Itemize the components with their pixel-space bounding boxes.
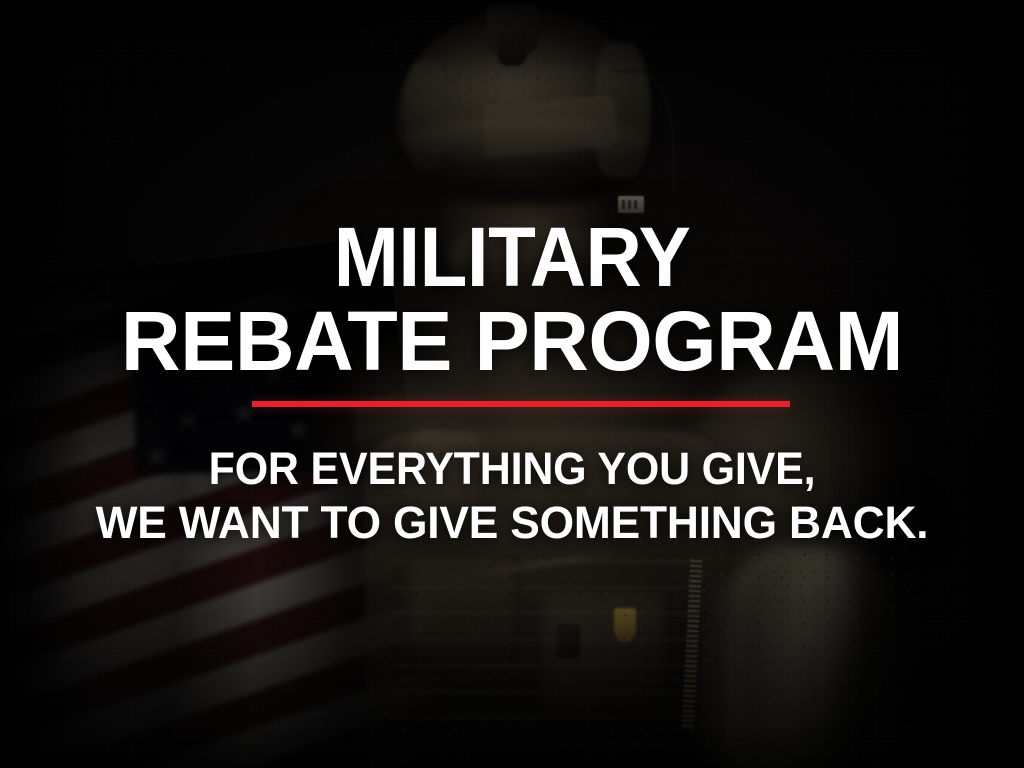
subheadline-line-1: FOR EVERYTHING YOU GIVE, xyxy=(23,446,1001,491)
red-divider-rule xyxy=(252,401,790,407)
text-overlay: MILITARY REBATE PROGRAM FOR EVERYTHING Y… xyxy=(0,0,1024,768)
headline-line-2: REBATE PROGRAM xyxy=(8,300,1017,382)
subheadline-line-2: WE WANT TO GIVE SOMETHING BACK. xyxy=(8,500,1017,545)
poster-canvas: MILITARY REBATE PROGRAM FOR EVERYTHING Y… xyxy=(0,0,1024,768)
headline-line-1: MILITARY xyxy=(36,216,988,298)
